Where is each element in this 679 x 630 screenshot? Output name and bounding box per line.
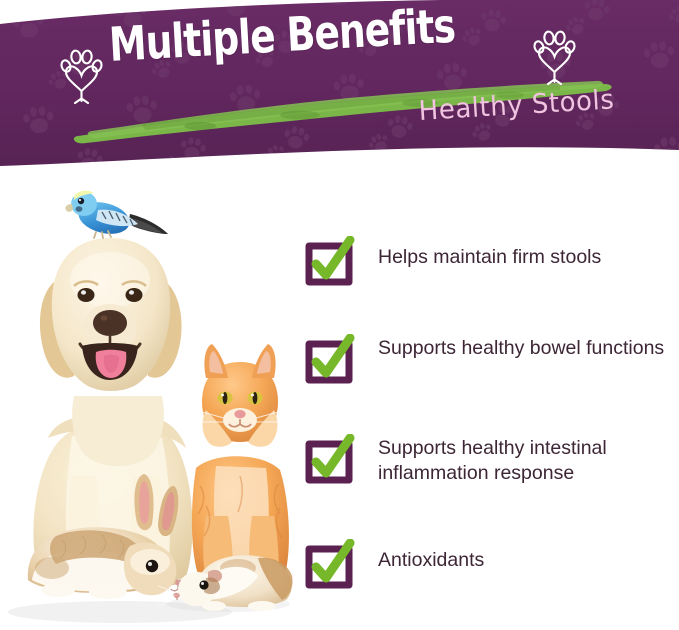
orange-cat [192, 344, 289, 593]
benefit-label: Supports healthy bowel functions [378, 334, 664, 361]
benefit-item: Helps maintain firm stools [303, 236, 601, 288]
checkbox-checked-icon[interactable] [303, 434, 355, 486]
budgie-parakeet [65, 191, 168, 239]
marketing-infographic: Multiple Benefits Healthy Stools [0, 0, 679, 630]
checkbox-checked-icon[interactable] [303, 334, 355, 386]
benefit-item: Supports healthy intestinal inflammation… [303, 434, 676, 486]
checkbox-checked-icon[interactable] [303, 236, 355, 288]
benefit-label: Supports healthy intestinal inflammation… [378, 434, 676, 486]
benefit-label: Helps maintain firm stools [378, 236, 601, 270]
pets-photo [0, 176, 300, 630]
benefit-label: Antioxidants [378, 539, 484, 573]
pets-illustration [0, 176, 300, 630]
benefit-item: Supports healthy bowel functions [303, 334, 664, 386]
header-banner: Multiple Benefits Healthy Stools [0, 0, 679, 175]
checkbox-checked-icon[interactable] [303, 539, 355, 591]
paw-heart-icon [60, 46, 104, 109]
paw-heart-icon [533, 27, 577, 90]
benefit-item: Antioxidants [303, 539, 484, 591]
